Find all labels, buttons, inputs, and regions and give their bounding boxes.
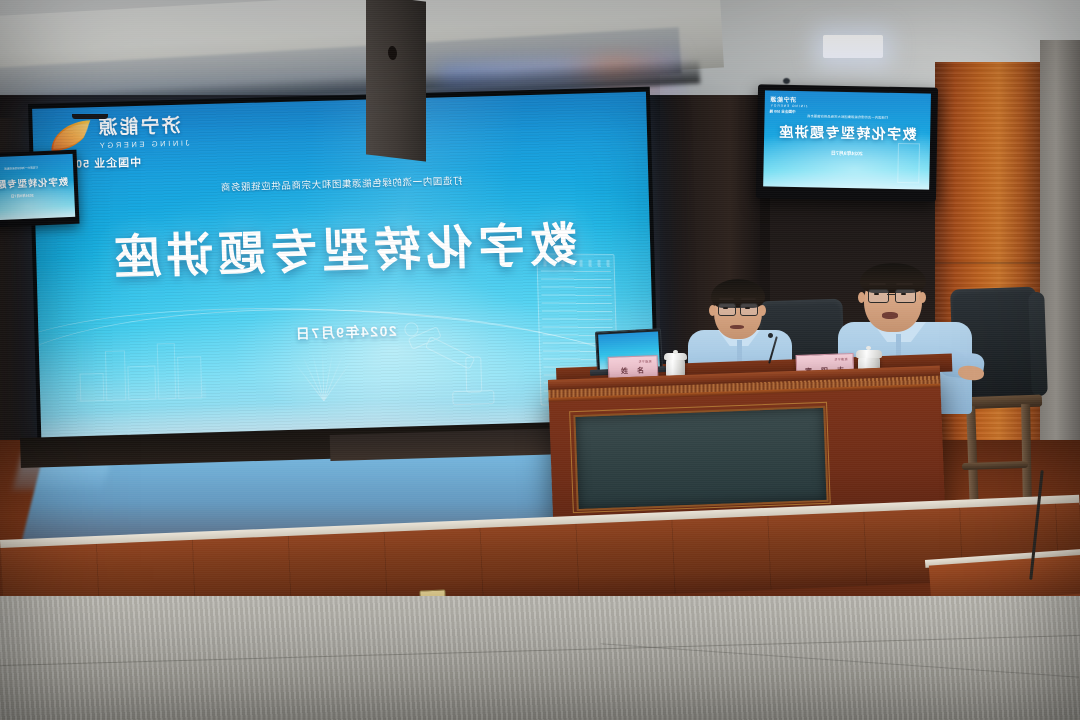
side-tv-right[interactable]: 济宁能源 JINING ENERGY 中国企业 500 强 打造国内一流的绿色能… <box>756 84 938 201</box>
side-tv-left-screen: 打造国内一流的绿色能源集团 数字化转型专题讲座 2024年9月7日 <box>0 154 75 221</box>
speaker-left-ear <box>759 305 766 316</box>
wood-panel-seam <box>935 262 1045 264</box>
side-tv-right-title: 数字化转型专题讲座 <box>764 121 930 144</box>
tea-cup-right-lid <box>856 350 882 358</box>
speaker-left-mouth <box>730 325 744 329</box>
speaker-left-brow <box>719 298 734 300</box>
side-tv-right-mount <box>72 114 108 119</box>
side-tv-left-subtitle: 打造国内一流的绿色能源集团 <box>0 164 73 172</box>
side-tv-right-subtitle: 打造国内一流的绿色能源集团和大宗商品供应链服务商 <box>764 112 930 120</box>
speaker-right-glasses-bridge <box>887 294 895 295</box>
side-tv-building-icon <box>897 143 920 183</box>
speaker-right-brow <box>869 283 886 285</box>
ceiling-sensor-icon <box>783 78 790 84</box>
side-tv-brand-en: JINING ENERGY <box>770 104 808 109</box>
podium-side-panel <box>366 0 426 162</box>
speaker-left-brow <box>741 298 756 300</box>
podium-cable-grommet-icon <box>388 45 397 60</box>
side-tv-right-screen: 济宁能源 JINING ENERGY 中国企业 500 强 打造国内一流的绿色能… <box>763 90 931 189</box>
speaker-right-glasses-icon <box>895 289 916 303</box>
tea-cup-left-lid <box>664 353 687 360</box>
speaker-right-ear <box>858 292 865 303</box>
podium-panel-inset <box>573 406 828 511</box>
speaker-left-ear <box>709 305 716 316</box>
tea-cup-left-knob <box>673 350 678 354</box>
ceiling-light-panel <box>823 35 883 58</box>
conference-hall-photo: 济宁能源 JINING ENERGY 中国企业 500 强 打造国内一流的绿色能… <box>0 0 1080 720</box>
speaker-left-glasses-bridge <box>734 307 740 308</box>
speaker-right-ear <box>919 292 926 303</box>
speaker-right-brow <box>896 283 913 285</box>
side-tv-left-title: 数字化转型专题讲座 <box>0 174 74 192</box>
side-tv-left-date: 2024年9月7日 <box>0 192 74 201</box>
floor-carpet <box>0 596 1080 720</box>
tea-cup-right-knob <box>866 346 871 350</box>
speaker-right-mouth-speaking <box>882 312 898 319</box>
chair-right-leg <box>1021 404 1032 504</box>
side-tv-left[interactable]: 打造国内一流的绿色能源集团 数字化转型专题讲座 2024年9月7日 <box>0 150 80 229</box>
speaker-right-glasses-icon <box>868 289 889 303</box>
speaker-left-glasses-icon <box>740 303 758 316</box>
speaker-left-glasses-icon <box>718 303 736 316</box>
microphone-head-left <box>768 333 773 338</box>
